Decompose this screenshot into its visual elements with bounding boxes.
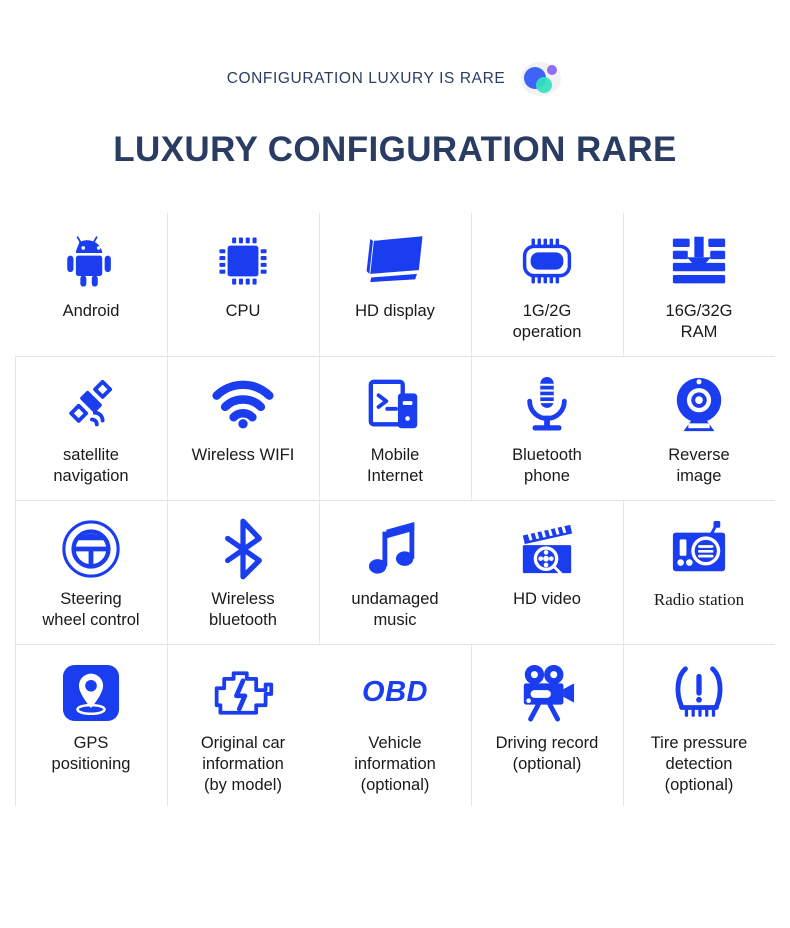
feature-label: Original car information (by model) [201, 733, 285, 796]
page-subtitle: CONFIGURATION LUXURY IS RARE [227, 70, 506, 88]
feature-grid: Android [15, 213, 775, 806]
feature-label: satellite navigation [53, 445, 128, 487]
feature-label: Driving record (optional) [496, 733, 599, 775]
feature-cell-ram[interactable]: 16G/32G RAM [623, 213, 775, 356]
feature-cell-satellite-navigation[interactable]: satellite navigation [15, 357, 167, 500]
microphone-icon [520, 371, 574, 439]
feature-label: Wireless WIFI [192, 445, 295, 466]
clapperboard-film-icon [516, 515, 578, 583]
hd-display-screen-icon [362, 227, 428, 295]
feature-cell-cpu[interactable]: CPU [167, 213, 319, 356]
feature-label: Steering wheel control [42, 589, 139, 631]
feature-cell-hd-video[interactable]: HD video [471, 501, 623, 644]
steering-wheel-icon [61, 515, 121, 583]
car-engine-icon [211, 659, 275, 727]
feature-label: HD display [355, 301, 435, 322]
tire-pressure-warning-icon [670, 659, 728, 727]
subtitle-row: CONFIGURATION LUXURY IS RARE [0, 62, 790, 96]
cpu-chip-icon [214, 227, 272, 295]
obd-label: OBD [362, 676, 428, 709]
brand-circles-logo-icon [519, 60, 563, 98]
feature-label: Android [63, 301, 120, 322]
feature-label: Reverse image [668, 445, 729, 487]
feature-label: 16G/32G RAM [666, 301, 733, 343]
obd-text-icon: OBD [362, 659, 428, 727]
ram-storage-download-icon [669, 227, 729, 295]
feature-cell-undamaged-music[interactable]: undamaged music [319, 501, 471, 644]
feature-label: undamaged music [351, 589, 438, 631]
satellite-icon [60, 371, 122, 439]
feature-label: Bluetooth phone [512, 445, 582, 487]
page-title: LUXURY CONFIGURATION RARE [0, 131, 790, 170]
feature-label: Mobile Internet [367, 445, 423, 487]
feature-label: HD video [513, 589, 581, 610]
radio-receiver-icon [669, 515, 729, 583]
feature-cell-mobile-internet[interactable]: Mobile Internet [319, 357, 471, 500]
feature-cell-wireless-wifi[interactable]: Wireless WIFI [167, 357, 319, 500]
music-note-icon [368, 515, 422, 583]
feature-cell-operation-memory[interactable]: 1G/2G operation [471, 213, 623, 356]
page-header: CONFIGURATION LUXURY IS RARE LUXURY CONF… [0, 0, 790, 170]
feature-cell-original-car-information[interactable]: Original car information (by model) [167, 645, 319, 806]
feature-cell-steering-wheel-control[interactable]: Steering wheel control [15, 501, 167, 644]
luxury-configuration-page: CONFIGURATION LUXURY IS RARE LUXURY CONF… [0, 0, 790, 928]
feature-label: Tire pressure detection (optional) [651, 733, 748, 796]
video-camera-recorder-icon [517, 659, 577, 727]
feature-cell-wireless-bluetooth[interactable]: Wireless bluetooth [167, 501, 319, 644]
feature-cell-vehicle-information[interactable]: OBD Vehicle information (optional) [319, 645, 471, 806]
feature-cell-gps-positioning[interactable]: GPS positioning [15, 645, 167, 806]
feature-label: 1G/2G operation [513, 301, 582, 343]
feature-label: CPU [226, 301, 261, 322]
webcam-camera-icon [670, 371, 728, 439]
feature-cell-tire-pressure-detection[interactable]: Tire pressure detection (optional) [623, 645, 775, 806]
feature-cell-radio-station[interactable]: Radio station [623, 501, 775, 644]
feature-cell-hd-display[interactable]: HD display [319, 213, 471, 356]
feature-label: GPS positioning [52, 733, 131, 775]
bluetooth-icon [220, 515, 266, 583]
feature-cell-android[interactable]: Android [15, 213, 167, 356]
feature-cell-bluetooth-phone[interactable]: Bluetooth phone [471, 357, 623, 500]
wifi-signal-icon [211, 371, 275, 439]
gps-pin-badge-icon [62, 659, 120, 727]
memory-chip-icon [516, 227, 578, 295]
mobile-terminal-icon [366, 371, 424, 439]
feature-cell-reverse-image[interactable]: Reverse image [623, 357, 775, 500]
feature-label: Vehicle information (optional) [354, 733, 436, 796]
feature-label: Wireless bluetooth [209, 589, 277, 631]
feature-label: Radio station [654, 589, 744, 611]
android-robot-icon [60, 227, 122, 295]
feature-cell-driving-record[interactable]: Driving record (optional) [471, 645, 623, 806]
